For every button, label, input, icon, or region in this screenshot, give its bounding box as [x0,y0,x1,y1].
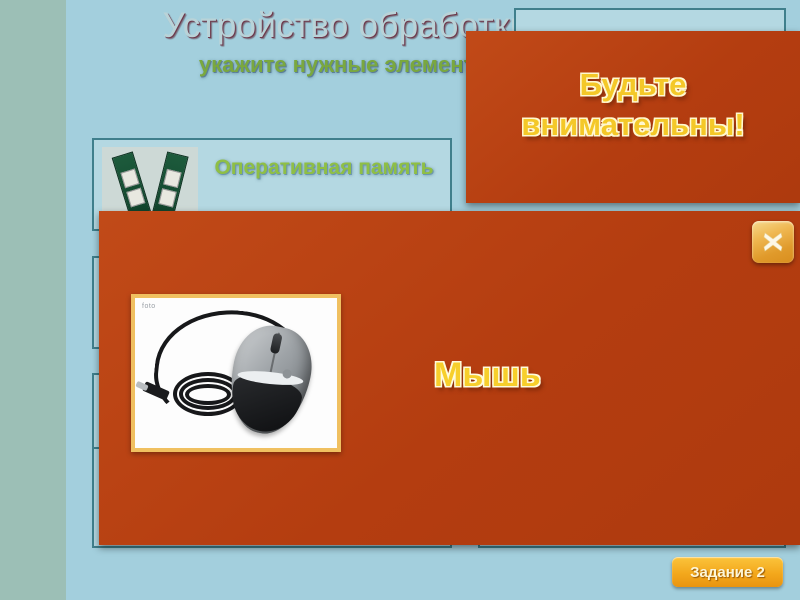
mouse-scroll-wheel-icon [270,333,283,354]
task-button[interactable]: Задание 2 [672,557,783,587]
ram-modules-icon [102,147,198,221]
warning-popup[interactable]: Будьте внимательны! [466,31,800,203]
photo-watermark: foto [142,303,156,310]
mouse-cord-coil-3 [185,384,231,405]
mouse-popup-label: Мышь [434,356,541,395]
close-icon [759,228,787,256]
mouse-photo: foto [131,294,341,452]
warning-popup-text: Будьте внимательны! [466,65,800,144]
task-button-label: Задание 2 [672,557,783,587]
close-button[interactable] [752,221,794,263]
answer-box-label: Оперативная память [206,154,442,182]
mouse-popup[interactable]: foto Мышь [99,211,800,545]
